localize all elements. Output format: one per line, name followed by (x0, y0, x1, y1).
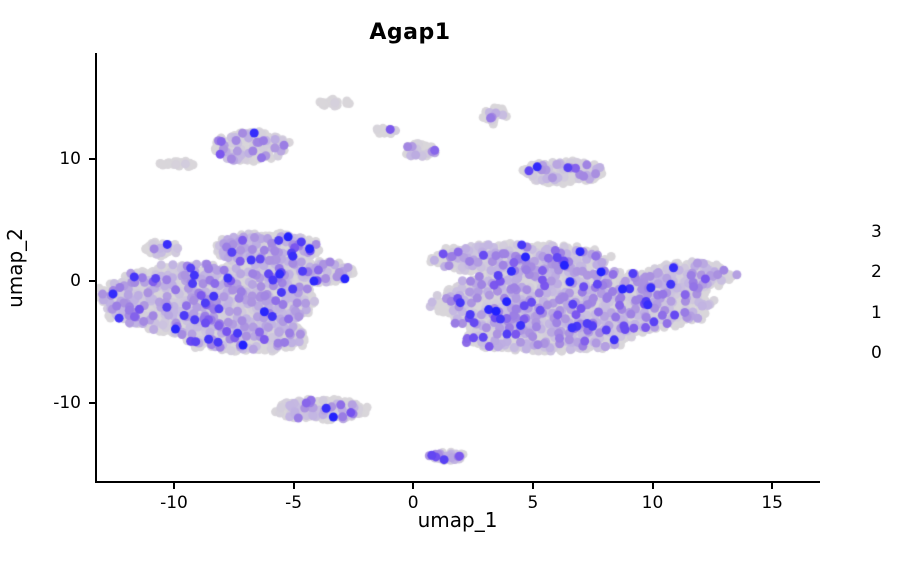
colorbar-tick-label: 2 (871, 262, 882, 282)
colorbar-tick-label: 1 (871, 303, 882, 323)
y-tick-label: -10 (53, 393, 81, 413)
plot-axes: -10-5051015 100-10 (95, 53, 820, 483)
colorbar-legend: 0123 (835, 208, 905, 353)
y-tick-label: 0 (70, 271, 81, 291)
page-title: Agap1 (0, 20, 820, 45)
scatter-plot-area (95, 53, 820, 483)
x-axis-label: umap_1 (95, 508, 820, 532)
x-tick (293, 483, 295, 489)
axis-spine-left (95, 53, 97, 483)
y-tick-label: 10 (59, 149, 81, 169)
x-tick (771, 483, 773, 489)
colorbar-tick (835, 313, 861, 315)
x-tick (173, 483, 175, 489)
figure-canvas: Agap1 -10-5051015 100-10 umap_1 umap_2 0… (0, 0, 911, 562)
scatter-points-canvas (95, 53, 820, 483)
y-tick (89, 402, 95, 404)
colorbar-tick (835, 272, 861, 274)
axis-spine-bottom (95, 481, 820, 483)
x-tick (652, 483, 654, 489)
colorbar-tick-label: 3 (871, 222, 882, 242)
colorbar-tick-label: 0 (871, 343, 882, 363)
colorbar-tick (835, 353, 861, 355)
y-axis-label: umap_2 (2, 53, 28, 483)
colorbar-tick (835, 232, 861, 234)
x-tick (532, 483, 534, 489)
x-tick (412, 483, 414, 489)
y-axis-label-text: umap_2 (3, 228, 27, 308)
y-tick (89, 280, 95, 282)
y-tick (89, 158, 95, 160)
